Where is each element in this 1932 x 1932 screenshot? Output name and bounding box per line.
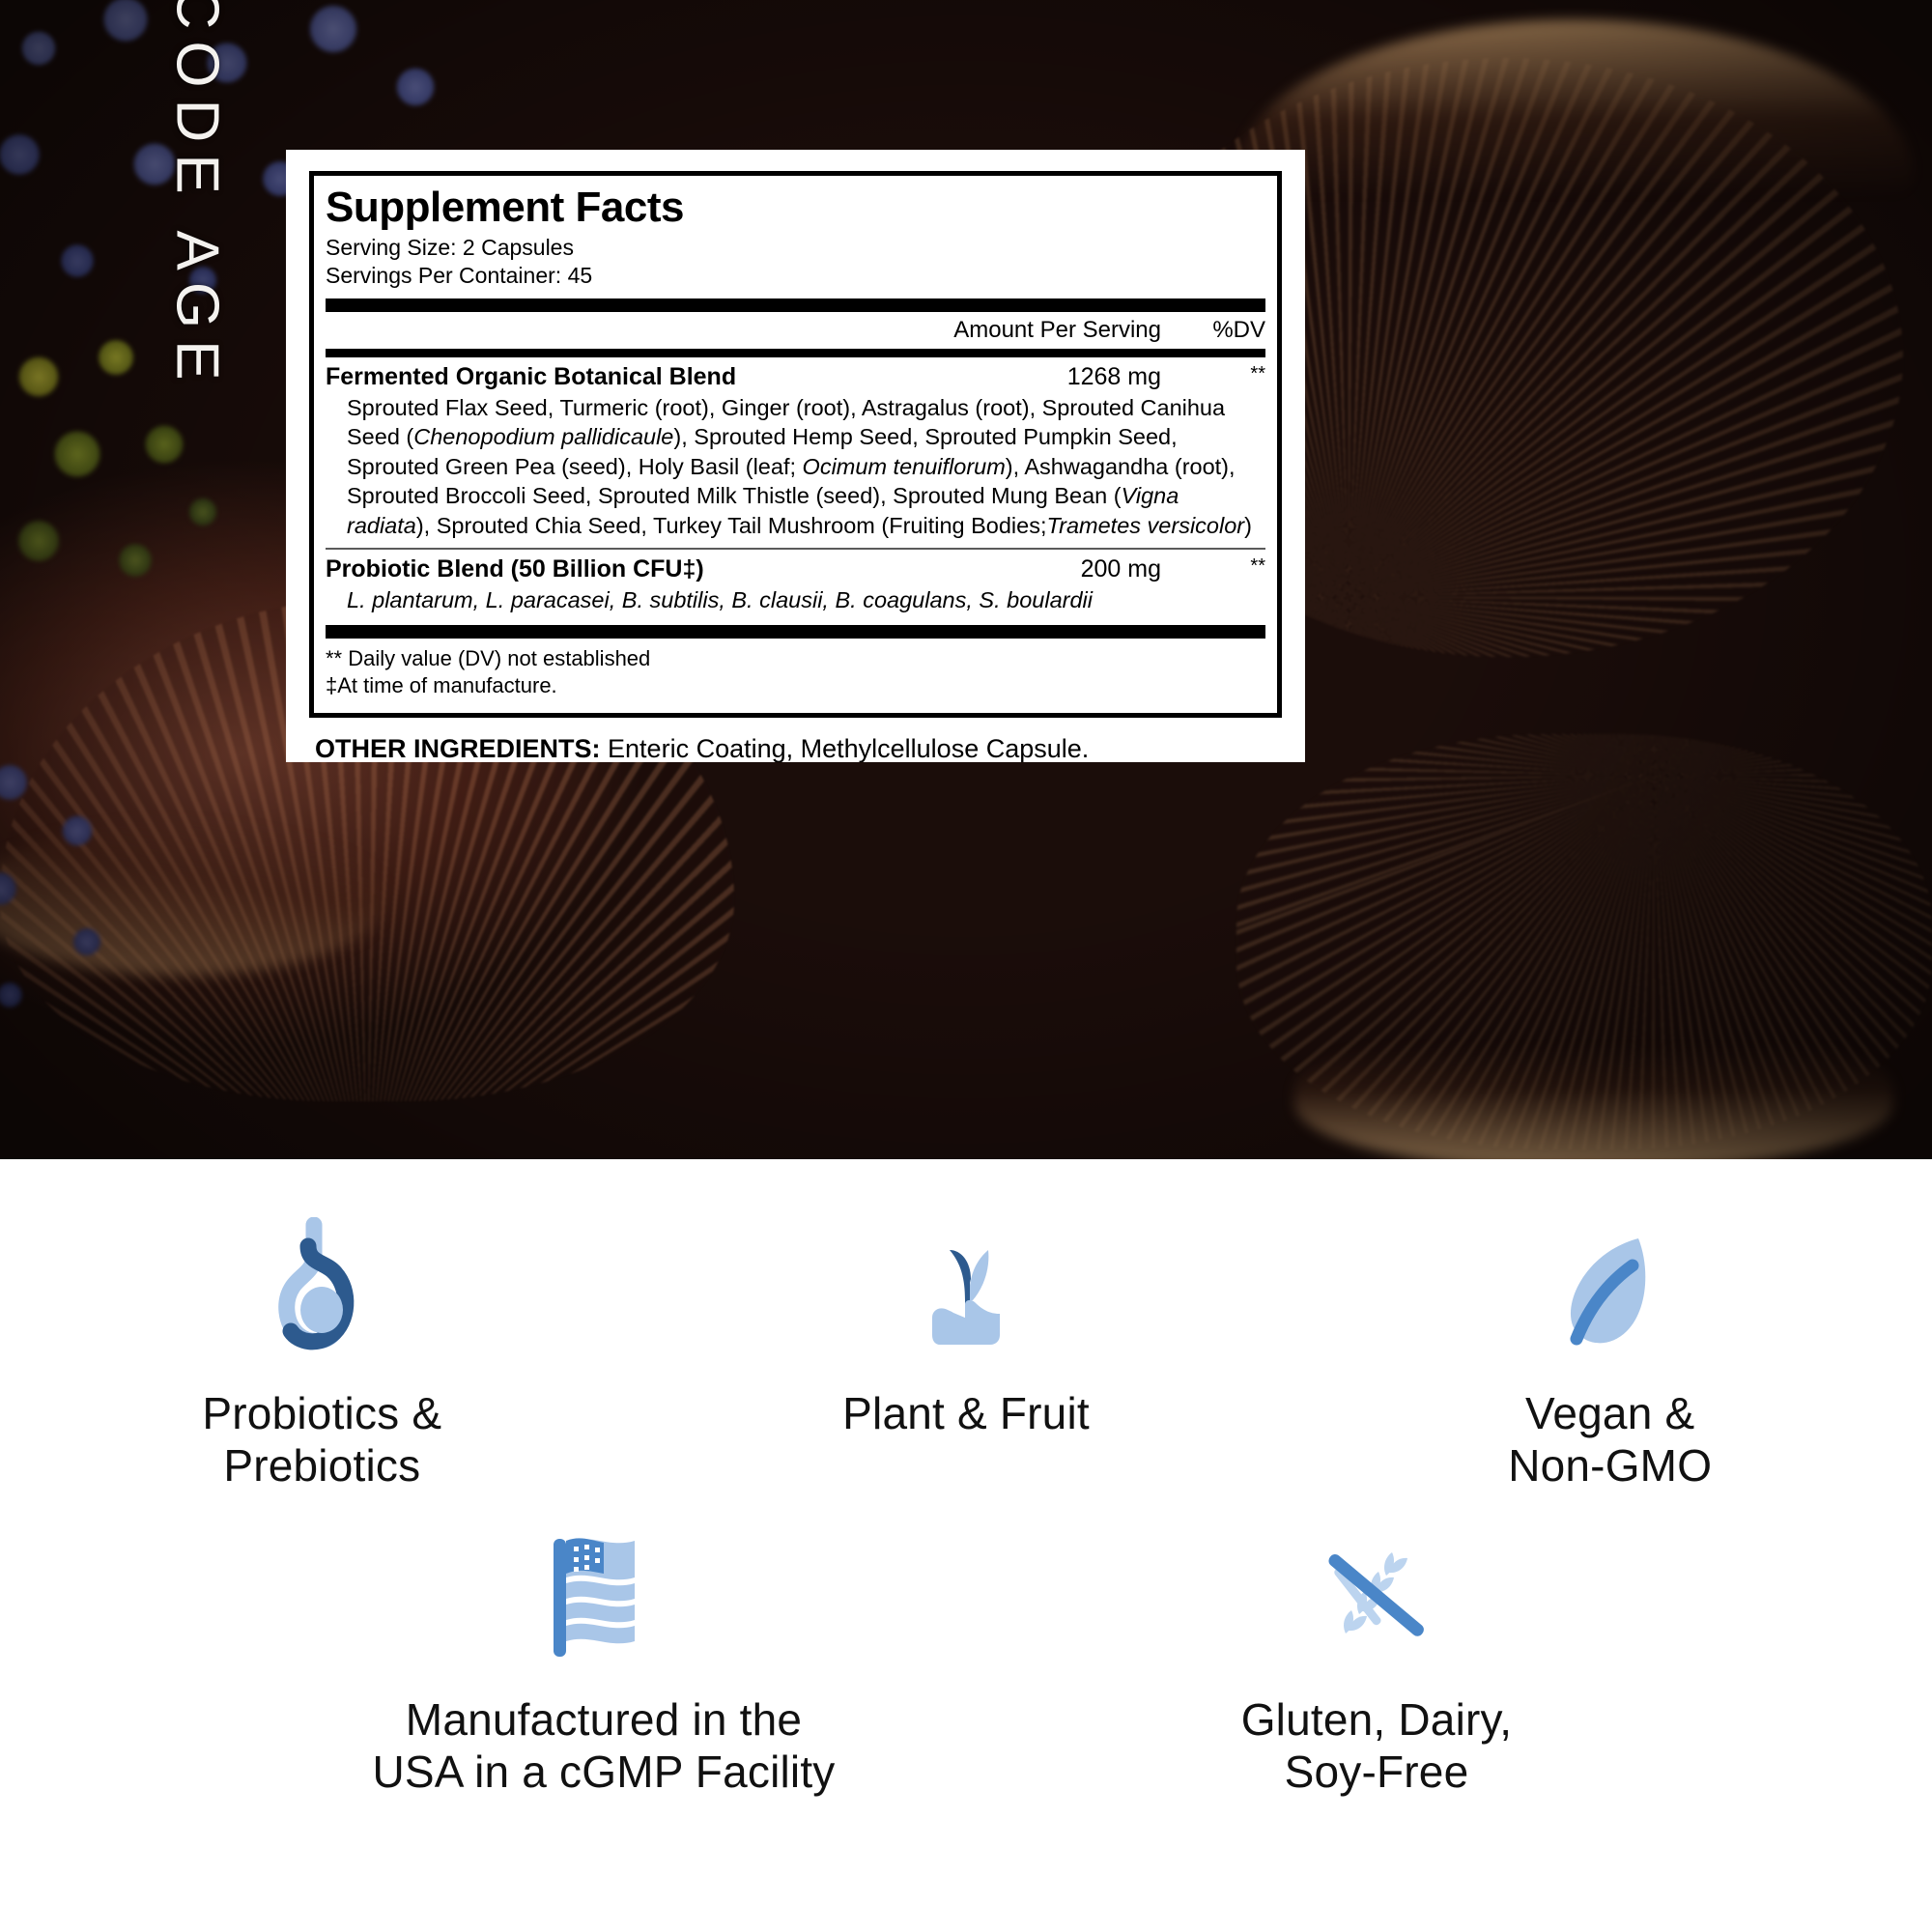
no-gluten-icon <box>1299 1523 1454 1668</box>
benefits-section: Probiotics &Prebiotics Plant & Fruit <box>0 1159 1932 1932</box>
stomach-icon <box>254 1217 389 1362</box>
benefits-row-2: Manufactured in theUSA in a cGMP Facilit… <box>0 1492 1932 1799</box>
benefit-label: Manufactured in theUSA in a cGMP Facilit… <box>372 1693 835 1799</box>
nutrient-dv: ** <box>1161 555 1265 577</box>
footnote-manufacture: ‡At time of manufacture. <box>326 672 1265 699</box>
benefit-plant-fruit: Plant & Fruit <box>644 1217 1289 1492</box>
blend-ingredient-list: Sprouted Flax Seed, Turmeric (root), Gin… <box>326 392 1265 541</box>
amount-per-serving-header: Amount Per Serving <box>953 317 1161 344</box>
nutrient-name: Fermented Organic Botanical Blend <box>326 363 1007 392</box>
brand-logo-text: CODE AGE <box>163 0 232 391</box>
other-ingredients-label: OTHER INGREDIENTS: <box>315 734 601 762</box>
supplement-facts-card: Supplement Facts Serving Size: 2 Capsule… <box>286 150 1305 762</box>
hero-photo-panel: CODE AGE Supplement Facts Serving Size: … <box>0 0 1932 1159</box>
probiotic-strain-list: L. plantarum, L. paracasei, B. subtilis,… <box>326 584 1265 615</box>
benefit-made-in-usa: Manufactured in theUSA in a cGMP Facilit… <box>304 1523 903 1799</box>
nutrient-amount: 200 mg <box>1007 555 1161 584</box>
supplement-facts-box: Supplement Facts Serving Size: 2 Capsule… <box>309 171 1282 718</box>
benefit-probiotics-prebiotics: Probiotics &Prebiotics <box>0 1217 644 1492</box>
nutrient-dv: ** <box>1161 363 1265 384</box>
footnotes: ** Daily value (DV) not established ‡At … <box>326 639 1265 705</box>
other-ingredients-value: Enteric Coating, Methylcellulose Capsule… <box>608 734 1089 762</box>
brand-logo: CODE AGE <box>129 155 265 676</box>
product-label-page: CODE AGE Supplement Facts Serving Size: … <box>0 0 1932 1932</box>
benefit-label: Probiotics &Prebiotics <box>202 1387 441 1492</box>
divider-thick-top <box>326 298 1265 312</box>
benefit-gluten-dairy-soy-free: Gluten, Dairy,Soy-Free <box>1125 1523 1628 1799</box>
hand-sprout-icon <box>894 1217 1038 1362</box>
benefit-label: Plant & Fruit <box>842 1387 1090 1439</box>
nutrient-name: Probiotic Blend (50 Billion CFU‡) <box>326 555 1007 584</box>
percent-dv-header: %DV <box>1161 317 1265 344</box>
divider-thick-bottom <box>326 625 1265 639</box>
serving-size: Serving Size: 2 Capsules <box>326 234 1265 262</box>
nutrient-amount: 1268 mg <box>1007 363 1161 392</box>
servings-per-container: Servings Per Container: 45 <box>326 262 1265 290</box>
table-column-headers: Amount Per Serving %DV <box>326 312 1265 349</box>
benefit-vegan-non-gmo: Vegan &Non-GMO <box>1288 1217 1932 1492</box>
divider-under-headers <box>326 349 1265 357</box>
other-ingredients-line: OTHER INGREDIENTS: Enteric Coating, Meth… <box>309 718 1282 762</box>
benefit-label: Gluten, Dairy,Soy-Free <box>1241 1693 1513 1799</box>
benefit-label: Vegan &Non-GMO <box>1508 1387 1712 1492</box>
benefits-row-1: Probiotics &Prebiotics Plant & Fruit <box>0 1159 1932 1492</box>
table-row: Fermented Organic Botanical Blend 1268 m… <box>326 357 1265 392</box>
usa-flag-icon <box>526 1523 681 1668</box>
supplement-facts-title: Supplement Facts <box>326 185 1265 230</box>
table-row: Probiotic Blend (50 Billion CFU‡) 200 mg… <box>326 550 1265 584</box>
leaf-icon <box>1538 1217 1683 1362</box>
footnote-daily-value: ** Daily value (DV) not established <box>326 645 1265 672</box>
